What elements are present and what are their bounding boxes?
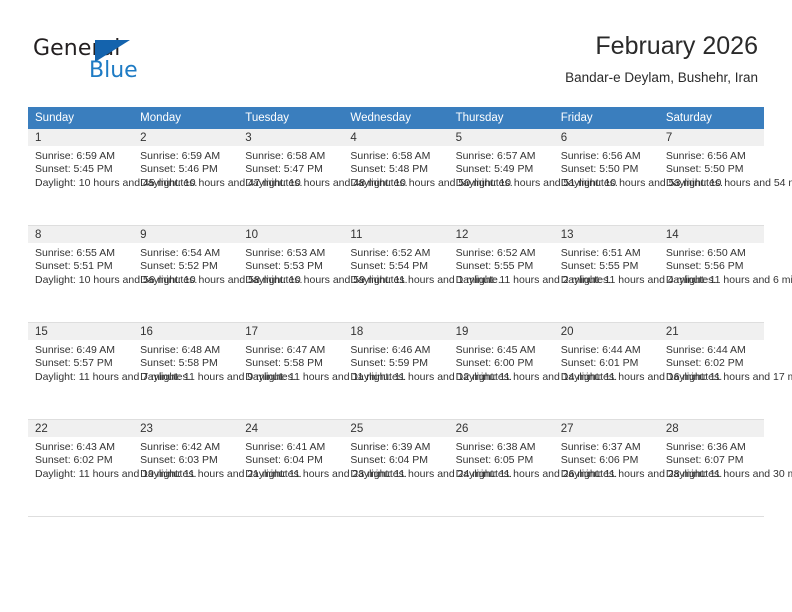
logo-text-blue: Blue [89, 58, 138, 83]
daylight-text: Daylight: 11 hours and 6 minutes. [666, 274, 758, 287]
sunset-text: Sunset: 6:04 PM [350, 454, 442, 467]
daylight-text: Daylight: 11 hours and 7 minutes. [35, 371, 127, 384]
weekday-header-sunday: Sunday [28, 107, 133, 129]
sunrise-text: Sunrise: 6:45 AM [456, 344, 548, 357]
daylight-text: Daylight: 10 hours and 56 minutes. [35, 274, 127, 287]
sunset-text: Sunset: 5:49 PM [456, 163, 548, 176]
sunrise-text: Sunrise: 6:58 AM [245, 150, 337, 163]
weekday-header-tuesday: Tuesday [238, 107, 343, 129]
day-cell[interactable]: 11 Sunrise: 6:52 AM Sunset: 5:54 PM Dayl… [343, 226, 448, 322]
day-number: 27 [554, 420, 659, 437]
daylight-text: Daylight: 11 hours and 21 minutes. [140, 468, 232, 481]
day-cell[interactable]: 8 Sunrise: 6:55 AM Sunset: 5:51 PM Dayli… [28, 226, 133, 322]
day-cell[interactable]: 5 Sunrise: 6:57 AM Sunset: 5:49 PM Dayli… [449, 129, 554, 224]
day-cell[interactable]: 12 Sunrise: 6:52 AM Sunset: 5:55 PM Dayl… [449, 226, 554, 322]
day-number: 8 [28, 226, 133, 243]
sunrise-text: Sunrise: 6:36 AM [666, 441, 758, 454]
day-cell[interactable]: 24 Sunrise: 6:41 AM Sunset: 6:04 PM Dayl… [238, 420, 343, 516]
sunset-text: Sunset: 5:54 PM [350, 260, 442, 273]
day-cell[interactable]: 27 Sunrise: 6:37 AM Sunset: 6:06 PM Dayl… [554, 420, 659, 516]
daylight-text: Daylight: 11 hours and 30 minutes. [666, 468, 758, 481]
daylight-text: Daylight: 11 hours and 1 minute. [350, 274, 442, 287]
day-number: 7 [659, 129, 764, 146]
sunrise-text: Sunrise: 6:38 AM [456, 441, 548, 454]
day-cell[interactable]: 6 Sunrise: 6:56 AM Sunset: 5:50 PM Dayli… [554, 129, 659, 224]
day-number: 4 [343, 129, 448, 146]
day-number: 20 [554, 323, 659, 340]
sunrise-text: Sunrise: 6:59 AM [35, 150, 127, 163]
daylight-text: Daylight: 10 hours and 45 minutes. [35, 177, 127, 190]
sunrise-text: Sunrise: 6:56 AM [561, 150, 653, 163]
sunrise-text: Sunrise: 6:53 AM [245, 247, 337, 260]
sunset-text: Sunset: 6:01 PM [561, 357, 653, 370]
day-cell[interactable]: 14 Sunrise: 6:50 AM Sunset: 5:56 PM Dayl… [659, 226, 764, 322]
sunset-text: Sunset: 5:47 PM [245, 163, 337, 176]
sunset-text: Sunset: 6:02 PM [35, 454, 127, 467]
day-number: 21 [659, 323, 764, 340]
weekday-header-saturday: Saturday [659, 107, 764, 129]
sunset-text: Sunset: 5:50 PM [666, 163, 758, 176]
day-number: 13 [554, 226, 659, 243]
day-cell[interactable]: 22 Sunrise: 6:43 AM Sunset: 6:02 PM Dayl… [28, 420, 133, 516]
daylight-text: Daylight: 11 hours and 24 minutes. [350, 468, 442, 481]
daylight-text: Daylight: 11 hours and 9 minutes. [140, 371, 232, 384]
sunrise-text: Sunrise: 6:58 AM [350, 150, 442, 163]
day-number: 12 [449, 226, 554, 243]
day-cell[interactable]: 23 Sunrise: 6:42 AM Sunset: 6:03 PM Dayl… [133, 420, 238, 516]
day-cell[interactable]: 4 Sunrise: 6:58 AM Sunset: 5:48 PM Dayli… [343, 129, 448, 224]
day-number: 28 [659, 420, 764, 437]
daylight-text: Daylight: 10 hours and 47 minutes. [140, 177, 232, 190]
sunrise-text: Sunrise: 6:52 AM [350, 247, 442, 260]
weekday-header-monday: Monday [133, 107, 238, 129]
daylight-text: Daylight: 11 hours and 23 minutes. [245, 468, 337, 481]
weekday-header-thursday: Thursday [449, 107, 554, 129]
day-cell[interactable]: 2 Sunrise: 6:59 AM Sunset: 5:46 PM Dayli… [133, 129, 238, 224]
daylight-text: Daylight: 10 hours and 53 minutes. [561, 177, 653, 190]
sunrise-text: Sunrise: 6:59 AM [140, 150, 232, 163]
title-block: February 2026 Bandar-e Deylam, Bushehr, … [565, 30, 758, 86]
sunset-text: Sunset: 5:57 PM [35, 357, 127, 370]
sunset-text: Sunset: 5:52 PM [140, 260, 232, 273]
sunset-text: Sunset: 6:07 PM [666, 454, 758, 467]
weekday-header-friday: Friday [554, 107, 659, 129]
daylight-text: Daylight: 10 hours and 51 minutes. [456, 177, 548, 190]
day-number: 14 [659, 226, 764, 243]
daylight-text: Daylight: 11 hours and 17 minutes. [666, 371, 758, 384]
daylight-text: Daylight: 10 hours and 48 minutes. [245, 177, 337, 190]
sunrise-text: Sunrise: 6:56 AM [666, 150, 758, 163]
day-cell[interactable]: 25 Sunrise: 6:39 AM Sunset: 6:04 PM Dayl… [343, 420, 448, 516]
sunrise-text: Sunrise: 6:46 AM [350, 344, 442, 357]
week-separator [28, 515, 764, 517]
sunset-text: Sunset: 5:55 PM [456, 260, 548, 273]
day-number: 2 [133, 129, 238, 146]
day-number: 11 [343, 226, 448, 243]
day-cell[interactable]: 26 Sunrise: 6:38 AM Sunset: 6:05 PM Dayl… [449, 420, 554, 516]
day-number: 15 [28, 323, 133, 340]
daylight-text: Daylight: 11 hours and 16 minutes. [561, 371, 653, 384]
sunrise-text: Sunrise: 6:37 AM [561, 441, 653, 454]
calendar-page: General Blue February 2026 Bandar-e Deyl… [0, 0, 792, 612]
sunset-text: Sunset: 5:59 PM [350, 357, 442, 370]
sunset-text: Sunset: 5:50 PM [561, 163, 653, 176]
weekday-header-wednesday: Wednesday [343, 107, 448, 129]
sunset-text: Sunset: 5:56 PM [666, 260, 758, 273]
sunrise-text: Sunrise: 6:44 AM [561, 344, 653, 357]
day-number: 5 [449, 129, 554, 146]
sunset-text: Sunset: 6:05 PM [456, 454, 548, 467]
daylight-text: Daylight: 11 hours and 2 minutes. [456, 274, 548, 287]
day-cell[interactable]: 9 Sunrise: 6:54 AM Sunset: 5:52 PM Dayli… [133, 226, 238, 322]
daylight-text: Daylight: 10 hours and 50 minutes. [350, 177, 442, 190]
sunset-text: Sunset: 5:58 PM [140, 357, 232, 370]
calendar-week-row: 1 Sunrise: 6:59 AM Sunset: 5:45 PM Dayli… [28, 129, 764, 224]
day-number: 1 [28, 129, 133, 146]
day-number: 22 [28, 420, 133, 437]
sunset-text: Sunset: 5:51 PM [35, 260, 127, 273]
sunrise-text: Sunrise: 6:48 AM [140, 344, 232, 357]
sunset-text: Sunset: 5:53 PM [245, 260, 337, 273]
page-header: General Blue February 2026 Bandar-e Deyl… [0, 0, 792, 105]
day-cell[interactable]: 20 Sunrise: 6:44 AM Sunset: 6:01 PM Dayl… [554, 323, 659, 419]
generalblue-logo[interactable]: General Blue [33, 36, 213, 88]
calendar-week-row: 8 Sunrise: 6:55 AM Sunset: 5:51 PM Dayli… [28, 226, 764, 322]
page-title: February 2026 [565, 30, 758, 62]
day-number: 17 [238, 323, 343, 340]
day-cell[interactable]: 18 Sunrise: 6:46 AM Sunset: 5:59 PM Dayl… [343, 323, 448, 419]
daylight-text: Daylight: 11 hours and 19 minutes. [35, 468, 127, 481]
calendar-week-row: 22 Sunrise: 6:43 AM Sunset: 6:02 PM Dayl… [28, 420, 764, 516]
sunset-text: Sunset: 6:06 PM [561, 454, 653, 467]
sunset-text: Sunset: 6:00 PM [456, 357, 548, 370]
sunrise-text: Sunrise: 6:51 AM [561, 247, 653, 260]
location-subtitle: Bandar-e Deylam, Bushehr, Iran [565, 69, 758, 86]
daylight-text: Daylight: 11 hours and 14 minutes. [456, 371, 548, 384]
daylight-text: Daylight: 11 hours and 4 minutes. [561, 274, 653, 287]
sunset-text: Sunset: 6:04 PM [245, 454, 337, 467]
day-cell[interactable]: 1 Sunrise: 6:59 AM Sunset: 5:45 PM Dayli… [28, 129, 133, 224]
day-cell[interactable]: 21 Sunrise: 6:44 AM Sunset: 6:02 PM Dayl… [659, 323, 764, 419]
sunrise-text: Sunrise: 6:44 AM [666, 344, 758, 357]
day-number: 19 [449, 323, 554, 340]
day-number: 23 [133, 420, 238, 437]
daylight-text: Daylight: 11 hours and 28 minutes. [561, 468, 653, 481]
sunrise-text: Sunrise: 6:50 AM [666, 247, 758, 260]
sunset-text: Sunset: 6:03 PM [140, 454, 232, 467]
day-cell[interactable]: 17 Sunrise: 6:47 AM Sunset: 5:58 PM Dayl… [238, 323, 343, 419]
day-number: 24 [238, 420, 343, 437]
sunset-text: Sunset: 5:55 PM [561, 260, 653, 273]
sunrise-text: Sunrise: 6:41 AM [245, 441, 337, 454]
day-number: 3 [238, 129, 343, 146]
sunrise-text: Sunrise: 6:49 AM [35, 344, 127, 357]
daylight-text: Daylight: 10 hours and 58 minutes. [140, 274, 232, 287]
day-cell[interactable]: 10 Sunrise: 6:53 AM Sunset: 5:53 PM Dayl… [238, 226, 343, 322]
calendar-week-row: 15 Sunrise: 6:49 AM Sunset: 5:57 PM Dayl… [28, 323, 764, 419]
sunset-text: Sunset: 5:45 PM [35, 163, 127, 176]
day-cell[interactable]: 19 Sunrise: 6:45 AM Sunset: 6:00 PM Dayl… [449, 323, 554, 419]
day-cell[interactable]: 15 Sunrise: 6:49 AM Sunset: 5:57 PM Dayl… [28, 323, 133, 419]
day-cell[interactable]: 28 Sunrise: 6:36 AM Sunset: 6:07 PM Dayl… [659, 420, 764, 516]
sunrise-text: Sunrise: 6:57 AM [456, 150, 548, 163]
sunset-text: Sunset: 5:58 PM [245, 357, 337, 370]
day-number: 18 [343, 323, 448, 340]
day-cell[interactable]: 3 Sunrise: 6:58 AM Sunset: 5:47 PM Dayli… [238, 129, 343, 224]
sunset-text: Sunset: 5:46 PM [140, 163, 232, 176]
sunset-text: Sunset: 5:48 PM [350, 163, 442, 176]
sunrise-text: Sunrise: 6:54 AM [140, 247, 232, 260]
daylight-text: Daylight: 10 hours and 54 minutes. [666, 177, 758, 190]
daylight-text: Daylight: 11 hours and 26 minutes. [456, 468, 548, 481]
day-number: 10 [238, 226, 343, 243]
day-cell[interactable]: 13 Sunrise: 6:51 AM Sunset: 5:55 PM Dayl… [554, 226, 659, 322]
daylight-text: Daylight: 11 hours and 11 minutes. [245, 371, 337, 384]
daylight-text: Daylight: 11 hours and 12 minutes. [350, 371, 442, 384]
daylight-text: Daylight: 10 hours and 59 minutes. [245, 274, 337, 287]
sunrise-text: Sunrise: 6:42 AM [140, 441, 232, 454]
day-number: 26 [449, 420, 554, 437]
sunrise-text: Sunrise: 6:43 AM [35, 441, 127, 454]
day-cell[interactable]: 16 Sunrise: 6:48 AM Sunset: 5:58 PM Dayl… [133, 323, 238, 419]
sunrise-text: Sunrise: 6:39 AM [350, 441, 442, 454]
sunrise-text: Sunrise: 6:47 AM [245, 344, 337, 357]
sunrise-text: Sunrise: 6:55 AM [35, 247, 127, 260]
day-number: 6 [554, 129, 659, 146]
day-number: 16 [133, 323, 238, 340]
day-cell[interactable]: 7 Sunrise: 6:56 AM Sunset: 5:50 PM Dayli… [659, 129, 764, 224]
day-number: 9 [133, 226, 238, 243]
sunrise-text: Sunrise: 6:52 AM [456, 247, 548, 260]
weekday-header-row: Sunday Monday Tuesday Wednesday Thursday… [28, 107, 764, 129]
day-number: 25 [343, 420, 448, 437]
sunrise-sunset-calendar: Sunday Monday Tuesday Wednesday Thursday… [28, 107, 764, 517]
sunset-text: Sunset: 6:02 PM [666, 357, 758, 370]
